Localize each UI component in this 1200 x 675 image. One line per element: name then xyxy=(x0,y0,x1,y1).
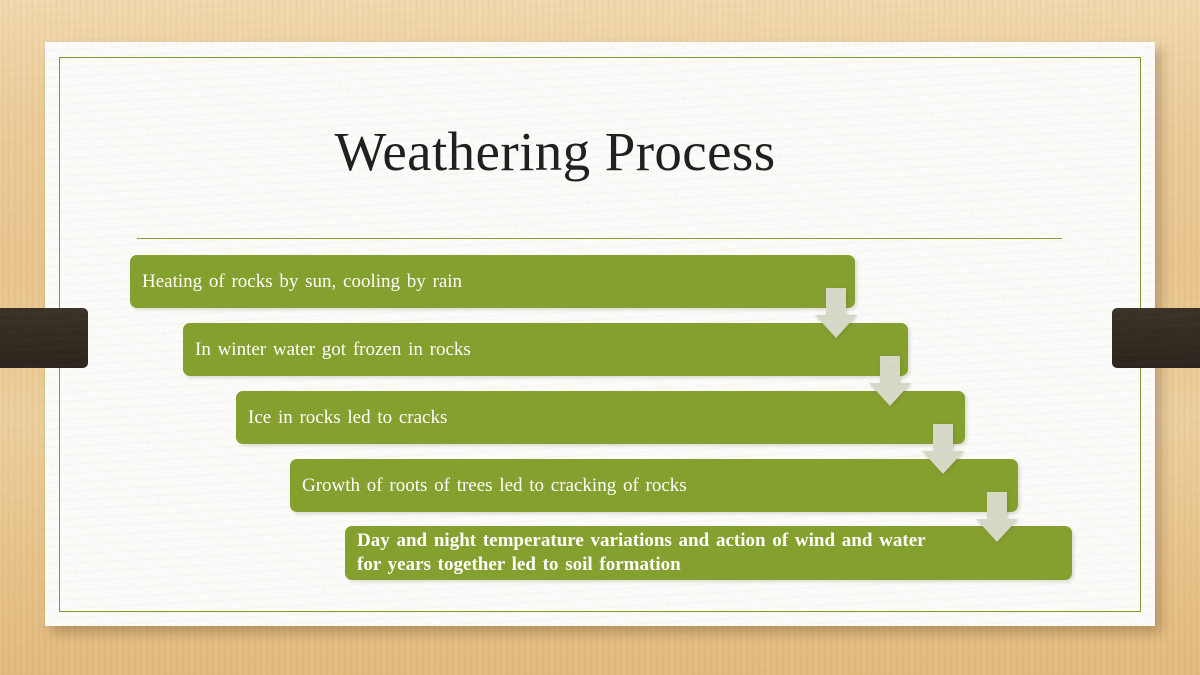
process-step-5[interactable]: Day and night temperature variations and… xyxy=(345,526,1072,580)
process-diagram: Heating of rocks by sun, cooling by rain… xyxy=(0,0,1200,675)
process-step-5-line-2: for years together led to soil formation xyxy=(357,554,681,575)
process-step-2-label: In winter water got frozen in rocks xyxy=(195,337,471,362)
arrow-down-icon xyxy=(976,492,1018,542)
process-step-5-label: Day and night temperature variations and… xyxy=(357,529,926,577)
process-step-3[interactable]: Ice in rocks led to cracks xyxy=(236,391,965,444)
process-step-4[interactable]: Growth of roots of trees led to cracking… xyxy=(290,459,1018,512)
process-step-4-label: Growth of roots of trees led to cracking… xyxy=(302,473,687,498)
arrow-down-icon xyxy=(815,288,857,338)
slide-background: Weathering Process Heating of rocks by s… xyxy=(0,0,1200,675)
process-step-2[interactable]: In winter water got frozen in rocks xyxy=(183,323,908,376)
arrow-down-icon xyxy=(869,356,911,406)
process-step-1-label: Heating of rocks by sun, cooling by rain xyxy=(142,269,462,294)
process-step-3-label: Ice in rocks led to cracks xyxy=(248,405,447,430)
process-step-5-line-1: Day and night temperature variations and… xyxy=(357,530,926,551)
arrow-down-icon xyxy=(922,424,964,474)
process-step-1[interactable]: Heating of rocks by sun, cooling by rain xyxy=(130,255,855,308)
